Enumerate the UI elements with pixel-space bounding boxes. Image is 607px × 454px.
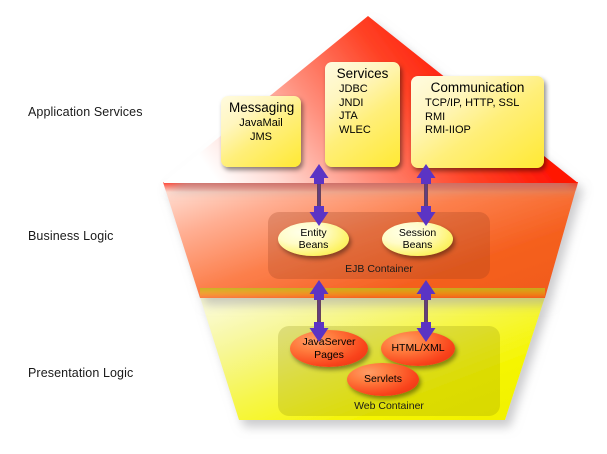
connector-arrows (0, 0, 607, 454)
arrow-ejb-to-html (417, 280, 436, 342)
arrow-communication-to-ejb (417, 164, 436, 226)
arrow-ejb-to-jsp (310, 280, 329, 342)
diagram-canvas: Application Services Business Logic Pres… (0, 0, 607, 454)
arrow-services-to-ejb (310, 164, 329, 226)
